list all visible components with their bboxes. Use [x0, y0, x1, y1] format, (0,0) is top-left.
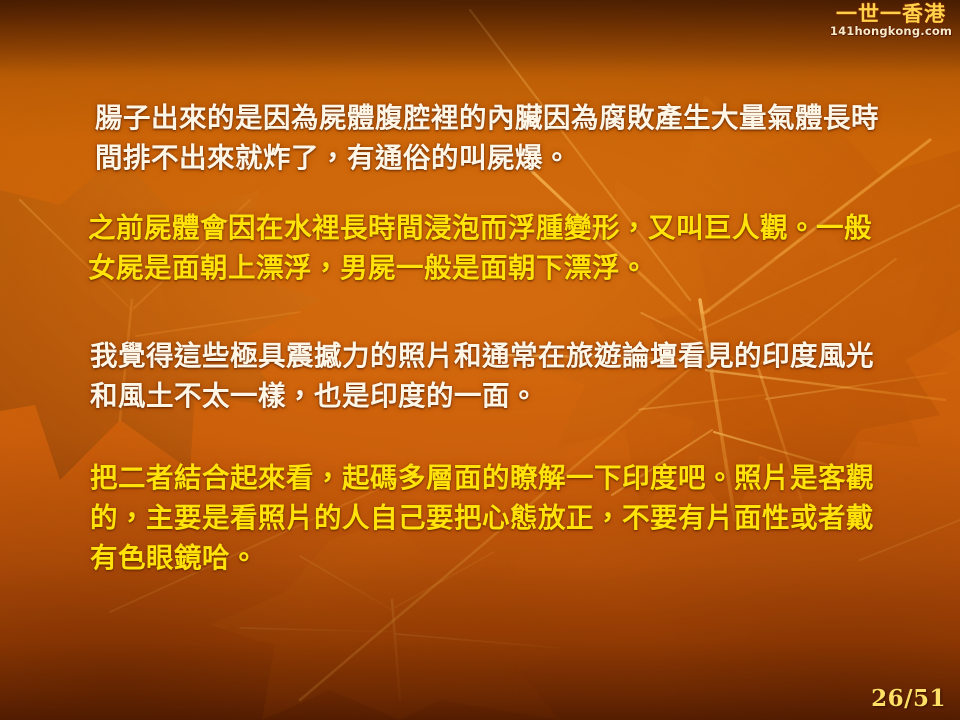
- logo-english-url: 141hongkong.com: [828, 26, 954, 38]
- paragraph-3: 我覺得這些極具震撼力的照片和通常在旅遊論壇看見的印度風光和風土不太一樣，也是印度…: [0, 336, 960, 416]
- paragraph-2: 之前屍體會因在水裡長時間浸泡而浮腫變形，又叫巨人觀。一般女屍是面朝上漂浮，男屍一…: [0, 208, 960, 288]
- page-number: 26/51: [871, 685, 946, 712]
- logo-chinese-text: 一世一香港: [828, 4, 954, 25]
- slide-canvas: 一世一香港 141hongkong.com 腸子出來的是因為屍體腹腔裡的內臟因為…: [0, 0, 960, 720]
- paragraph-4: 把二者結合起來看，起碼多層面的瞭解一下印度吧。照片是客觀的，主要是看照片的人自己…: [0, 458, 960, 578]
- slide-text-body: 腸子出來的是因為屍體腹腔裡的內臟因為腐敗產生大量氣體長時間排不出來就炸了，有通俗…: [0, 98, 960, 578]
- site-logo-watermark: 一世一香港 141hongkong.com: [828, 4, 954, 38]
- paragraph-1: 腸子出來的是因為屍體腹腔裡的內臟因為腐敗產生大量氣體長時間排不出來就炸了，有通俗…: [0, 98, 960, 178]
